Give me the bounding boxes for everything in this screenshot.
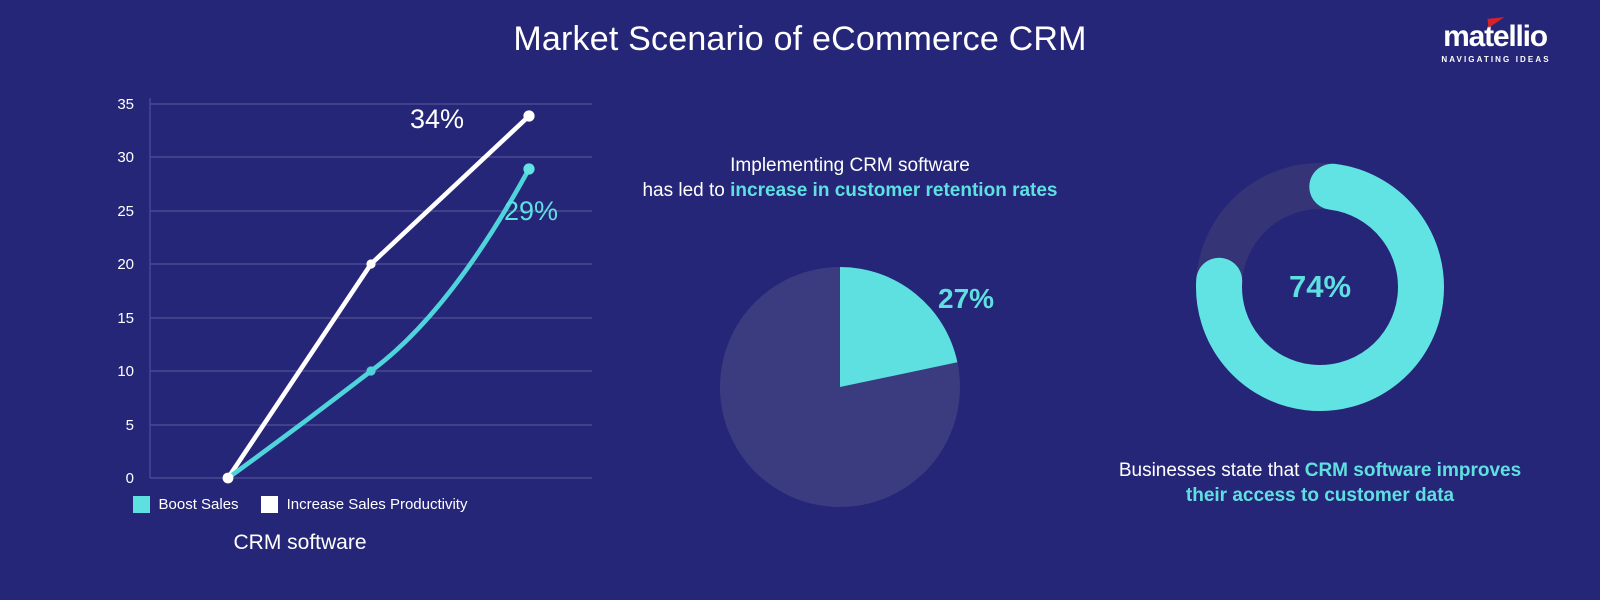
series-line-increase-sales-productivity: [228, 116, 529, 478]
series-value-label-boost-sales: 29%: [504, 196, 558, 226]
pie-chart-panel: Implementing CRM software has led to inc…: [640, 140, 1060, 560]
gridlines: [150, 104, 592, 478]
brand-logo: matellio NAVIGATING IDEAS: [1432, 22, 1558, 66]
donut-caption: Businesses state that CRM software impro…: [1114, 458, 1526, 508]
pie-caption-line2-plain: has led to: [642, 180, 730, 201]
infographic-canvas: Market Scenario of eCommerce CRM matelli…: [0, 0, 1600, 600]
legend-swatch-increase-sales-productivity: [261, 496, 278, 513]
y-tick-10: 10: [100, 364, 134, 379]
logo-accent-icon: [1488, 17, 1506, 28]
line-chart-svg: [0, 78, 640, 498]
data-point-productivity-mid: [366, 259, 375, 268]
data-point-boost-mid: [366, 366, 375, 375]
y-tick-25: 25: [100, 204, 134, 219]
y-tick-35: 35: [100, 97, 134, 112]
page-title: Market Scenario of eCommerce CRM: [0, 16, 1600, 62]
chart-legend: Boost Sales Increase Sales Productivity: [0, 496, 600, 513]
series-value-label-productivity: 34%: [410, 104, 464, 134]
pie-caption: Implementing CRM software has led to inc…: [640, 153, 1060, 203]
pie-caption-line1: Implementing CRM software: [730, 155, 970, 176]
line-chart-plot: [0, 78, 640, 498]
pie-value-label: 27%: [938, 284, 994, 314]
y-tick-20: 20: [100, 257, 134, 272]
donut-chart-panel: 74% Businesses state that CRM software i…: [1100, 140, 1540, 560]
legend-item-increase-sales-productivity[interactable]: Increase Sales Productivity: [261, 496, 468, 513]
pie-chart-figure: [718, 265, 962, 509]
y-tick-15: 15: [100, 311, 134, 326]
donut-center-value: 74%: [1186, 271, 1454, 303]
data-point-origin: [223, 473, 234, 484]
y-tick-30: 30: [100, 150, 134, 165]
data-point-productivity-end: [523, 110, 534, 121]
pie-caption-highlight: increase in customer retention rates: [730, 180, 1057, 201]
legend-swatch-boost-sales: [133, 496, 150, 513]
brand-wordmark-wrap: matellio: [1432, 22, 1558, 52]
donut-caption-plain: Businesses state that: [1119, 460, 1305, 481]
series-line-boost-sales: [228, 169, 529, 478]
line-chart-panel: 35 30 25 20 15 10 5 0 34% 29% Boost Sale…: [0, 78, 640, 578]
y-tick-5: 5: [100, 418, 134, 433]
legend-label-boost-sales: Boost Sales: [159, 496, 239, 513]
legend-item-boost-sales[interactable]: Boost Sales: [133, 496, 239, 513]
x-axis-label: CRM software: [0, 530, 600, 556]
y-tick-0: 0: [100, 471, 134, 486]
brand-tagline: NAVIGATING IDEAS: [1432, 54, 1558, 66]
legend-label-increase-sales-productivity: Increase Sales Productivity: [287, 496, 468, 513]
pie-chart-svg: [718, 265, 962, 509]
data-point-boost-end: [523, 163, 534, 174]
